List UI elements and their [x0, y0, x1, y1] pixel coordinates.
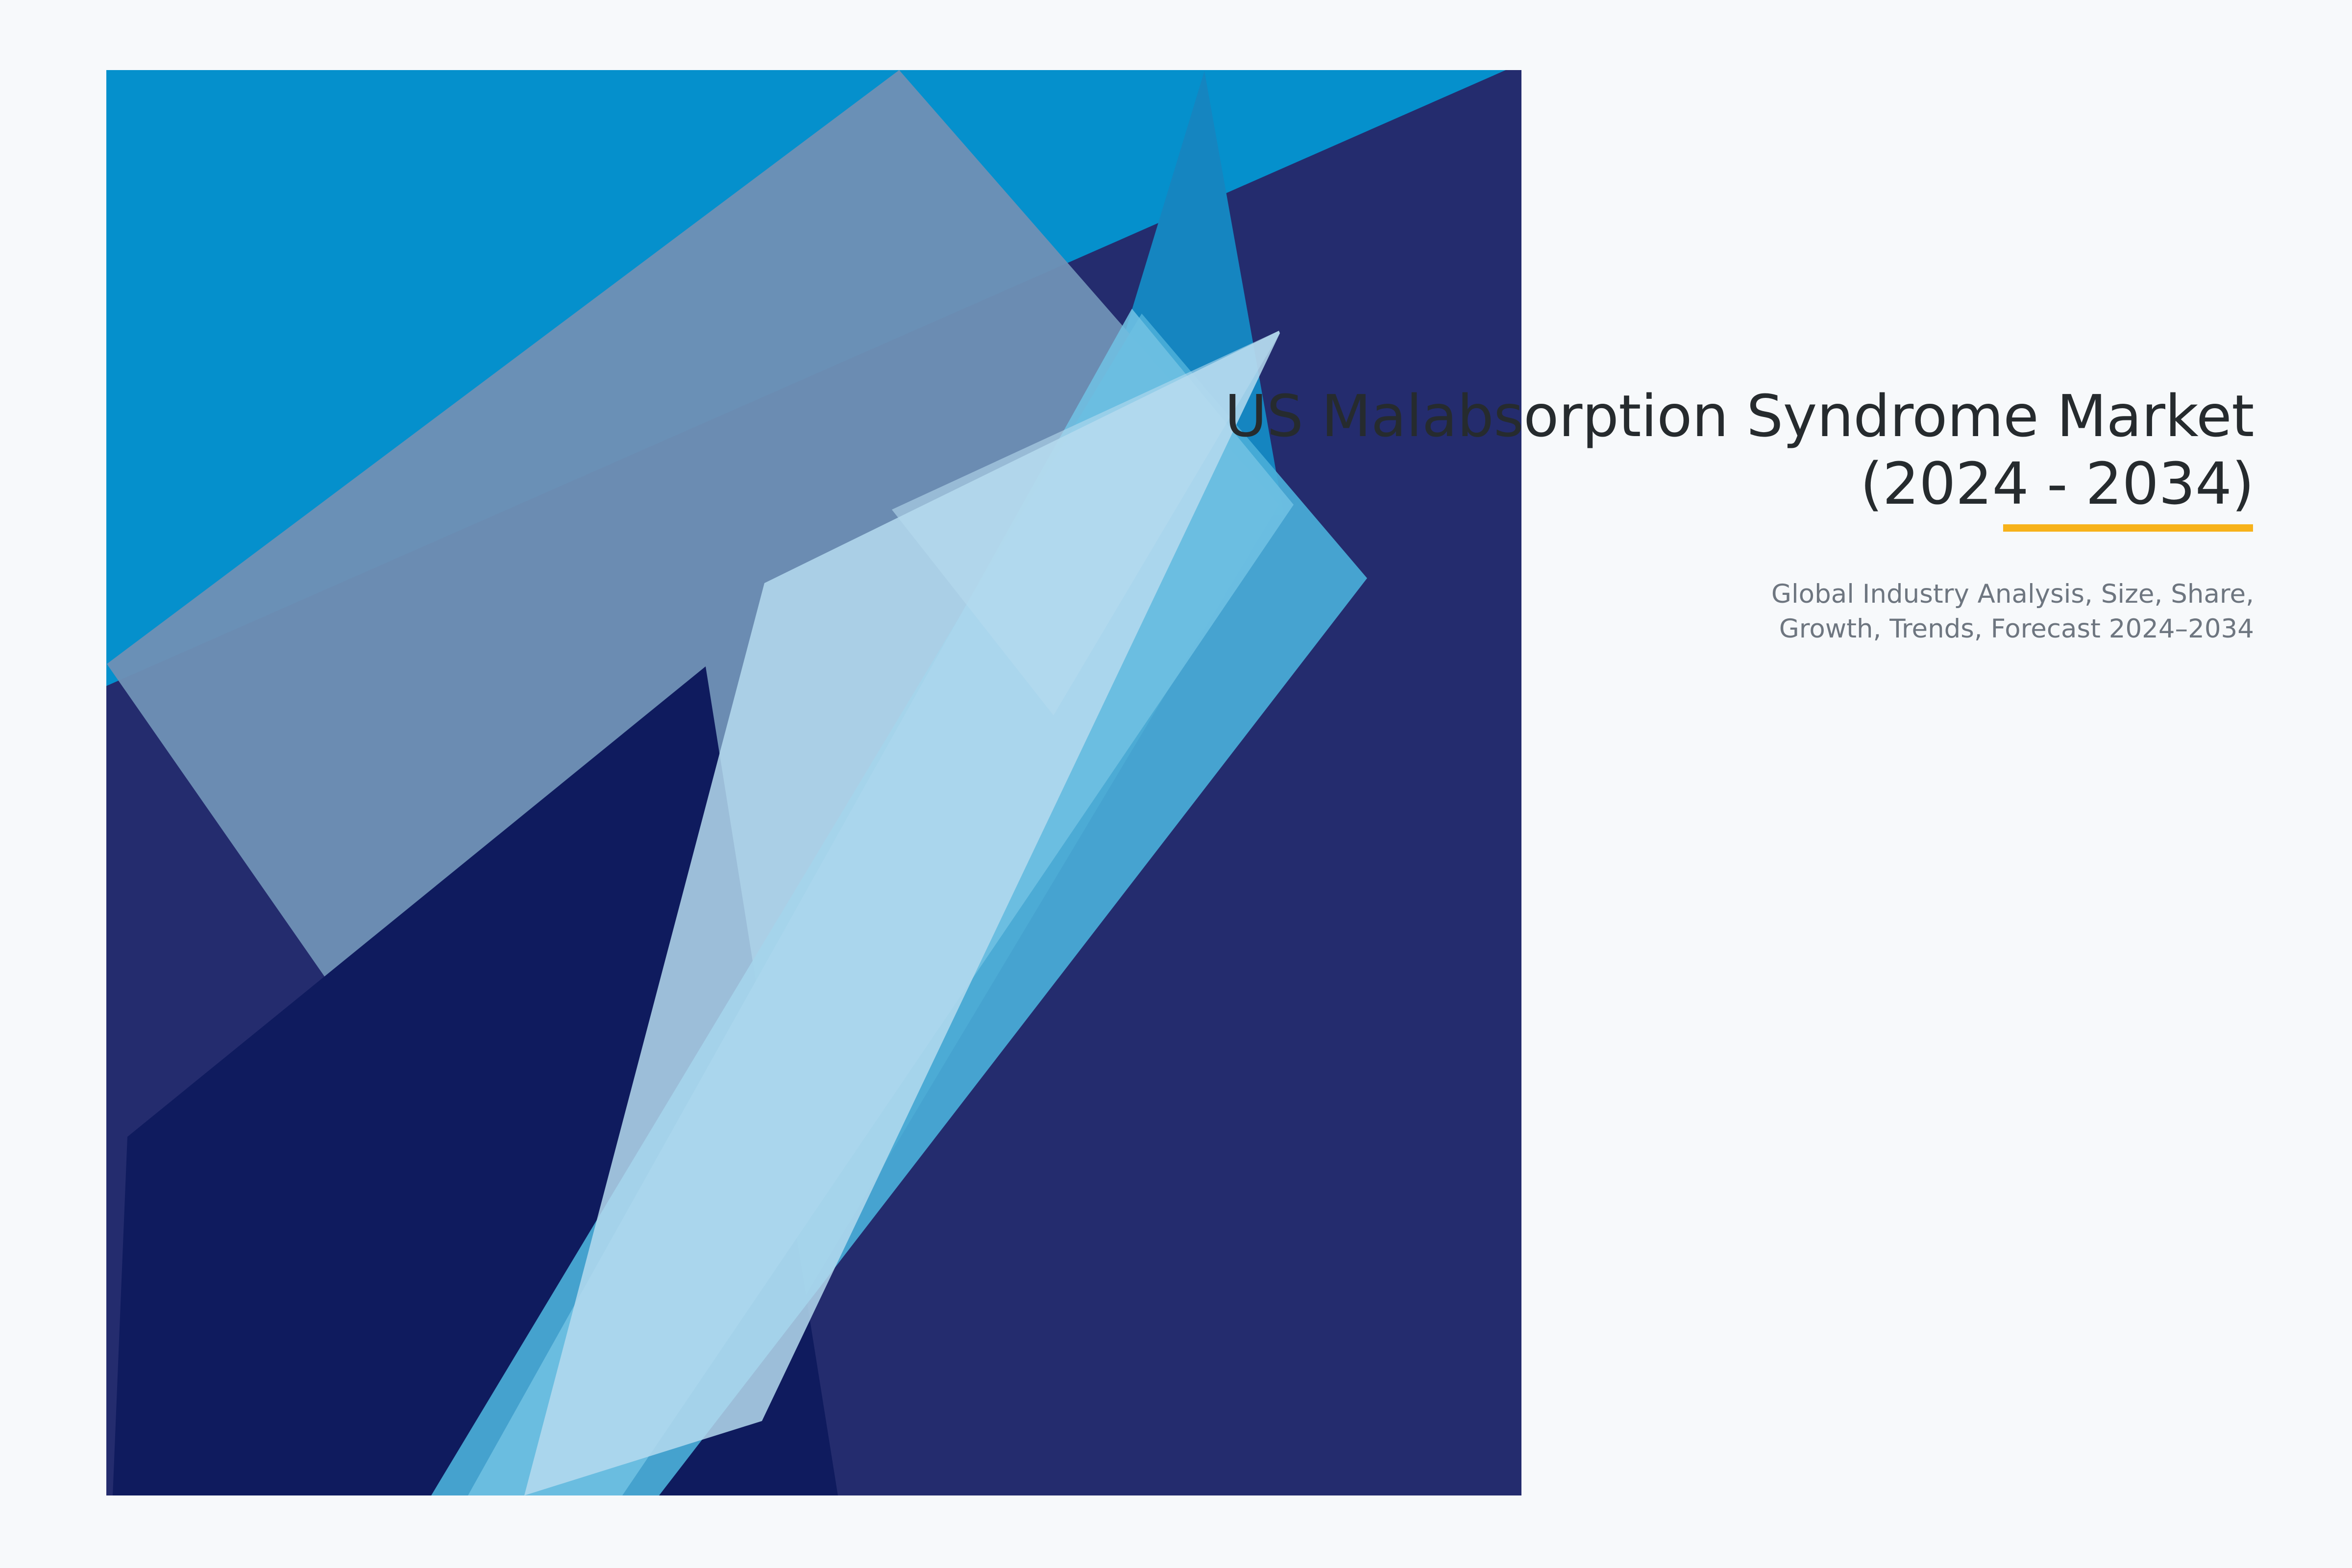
- shape-bright-blue-base: [106, 70, 1521, 1495]
- cover-text-block: US Malabsorption Syndrome Market (2024 -…: [833, 382, 2254, 646]
- cover-artwork: [0, 0, 2352, 1568]
- page-subtitle: Global Industry Analysis, Size, Share, G…: [833, 577, 2254, 646]
- page-title: US Malabsorption Syndrome Market (2024 -…: [833, 382, 2254, 517]
- shape-steel-blue-quad: [107, 70, 1279, 1495]
- artwork-svg: [0, 0, 2352, 1568]
- accent-underline-bar: [2003, 524, 2253, 532]
- shape-deep-navy-arrow: [113, 666, 838, 1495]
- shape-navy-field: [106, 70, 1521, 1495]
- cover-page: US Malabsorption Syndrome Market (2024 -…: [0, 0, 2352, 1568]
